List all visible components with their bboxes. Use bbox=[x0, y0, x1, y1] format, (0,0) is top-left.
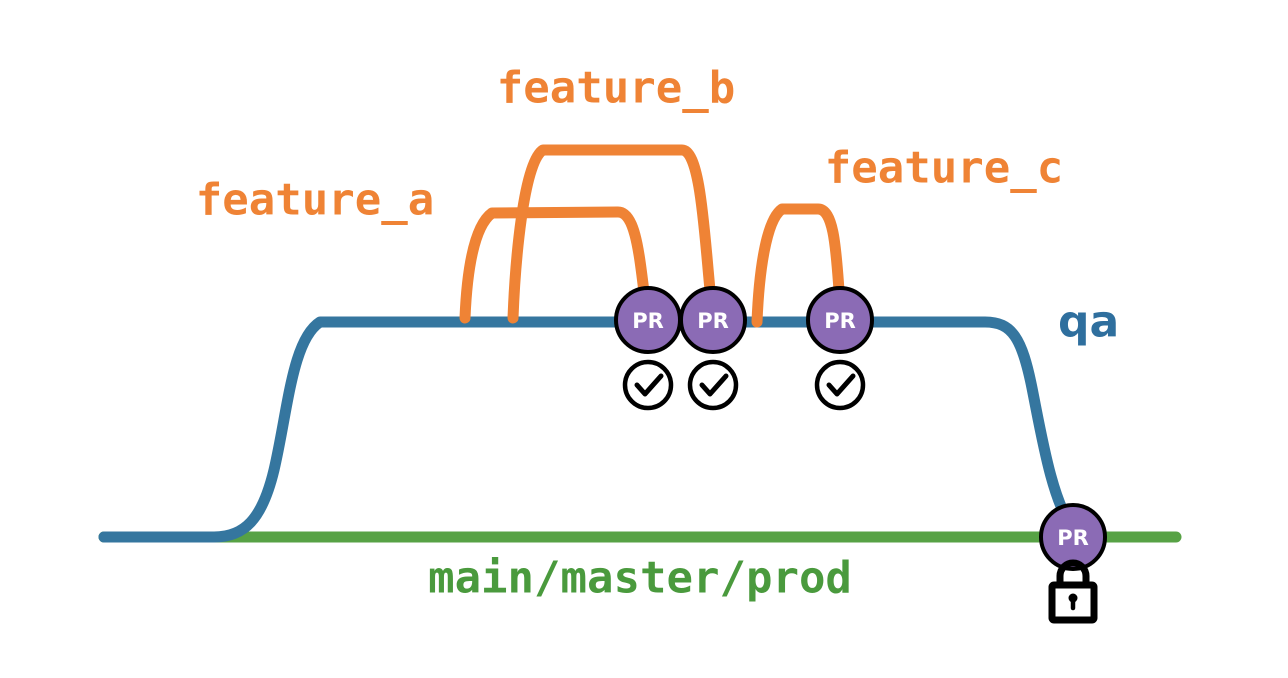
branch-label-feature-a: feature_a bbox=[196, 175, 434, 226]
branch-label-feature-c: feature_c bbox=[825, 143, 1063, 194]
branch-label-qa: qa bbox=[1058, 297, 1119, 348]
git-branching-diagram: PR PR PR PR bbox=[0, 0, 1288, 678]
check-circle-icon bbox=[690, 362, 736, 408]
pr-node-4[interactable]: PR bbox=[1041, 505, 1105, 569]
check-circle-icon bbox=[817, 362, 863, 408]
check-circle-icon bbox=[625, 362, 671, 408]
branch-label-main: main/master/prod bbox=[428, 553, 852, 604]
branch-line-feature-a bbox=[465, 212, 644, 318]
pr-node-3[interactable]: PR bbox=[808, 288, 872, 352]
branch-label-feature-b: feature_b bbox=[497, 63, 735, 114]
pr-node-label: PR bbox=[697, 309, 729, 333]
lock-icon bbox=[1052, 563, 1094, 620]
branch-line-feature-b bbox=[513, 150, 710, 318]
pr-node-2[interactable]: PR bbox=[681, 288, 745, 352]
pr-node-label: PR bbox=[1057, 526, 1089, 550]
diagram-canvas: PR PR PR PR bbox=[0, 0, 1288, 678]
branch-line-qa bbox=[104, 322, 1073, 537]
pr-node-1[interactable]: PR bbox=[616, 288, 680, 352]
pr-node-label: PR bbox=[824, 309, 856, 333]
pr-node-label: PR bbox=[632, 309, 664, 333]
